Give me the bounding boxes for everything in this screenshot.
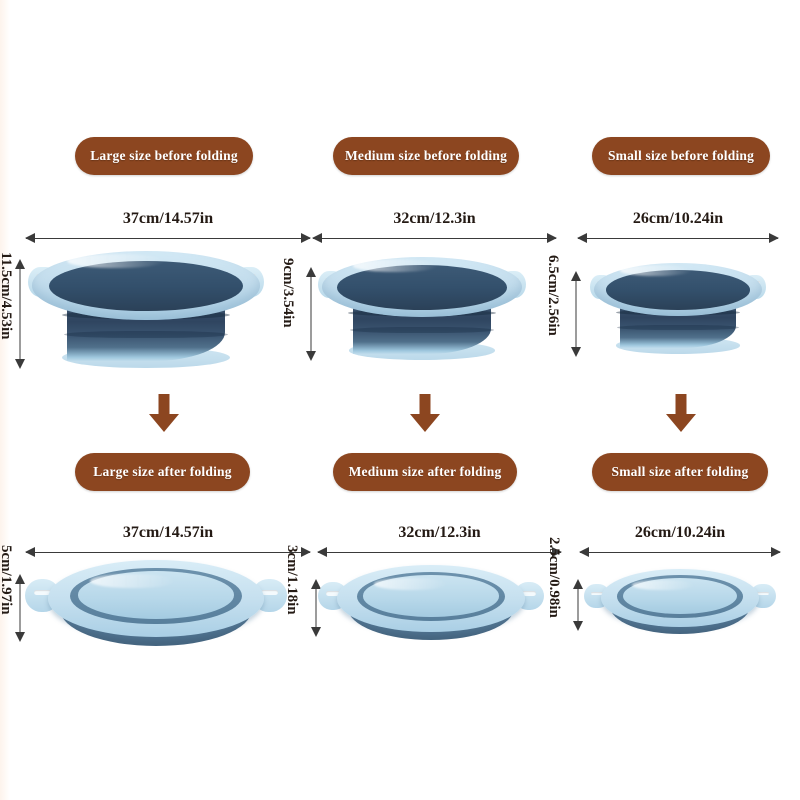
- width-label-large-before: 37cm/14.57in: [26, 210, 310, 228]
- product-image-large-folded: [30, 556, 282, 646]
- bowl-highlight: [67, 254, 164, 268]
- arrow-up-icon: [573, 579, 583, 589]
- product-image-medium-folded: [322, 562, 540, 640]
- badge-large-before: Large size before folding: [75, 137, 253, 175]
- arrow-down-icon: [676, 394, 687, 416]
- badge-large-after: Large size after folding: [75, 453, 250, 491]
- arrow-small: [666, 394, 696, 432]
- arrow-down-icon: [420, 394, 431, 416]
- dimension-line: [26, 552, 310, 553]
- product-image-small-folded: [588, 566, 772, 634]
- arrow-right-icon: [301, 547, 311, 557]
- arrow-left-icon: [577, 233, 587, 243]
- product-image-large-expanded: [30, 250, 262, 368]
- arrow-right-icon: [771, 547, 781, 557]
- width-label-medium-after: 32cm/12.3in: [318, 524, 561, 542]
- width-dimension-small-before: 26cm/10.24in: [578, 232, 778, 244]
- width-dimension-large-before: 37cm/14.57in: [26, 232, 310, 244]
- height-label-medium-before: 9cm/3.54in: [279, 258, 296, 328]
- width-dimension-small-after: 26cm/10.24in: [580, 546, 780, 558]
- arrow-right-icon: [301, 233, 311, 243]
- bowl-interior: [49, 261, 242, 312]
- arrow-right-icon: [769, 233, 779, 243]
- width-label-medium-before: 32cm/12.3in: [313, 210, 556, 228]
- arrow-right-icon: [547, 233, 557, 243]
- arrow-left-icon: [317, 547, 327, 557]
- arrow-head: [666, 414, 696, 432]
- arrow-down-icon: [15, 632, 25, 642]
- arrow-down-icon: [15, 359, 25, 369]
- arrow-down-icon: [159, 394, 170, 416]
- width-label-large-after: 37cm/14.57in: [26, 524, 310, 542]
- dimension-line: [580, 552, 780, 553]
- width-label-small-before: 26cm/10.24in: [578, 210, 778, 228]
- bowl-highlight: [620, 265, 692, 276]
- height-dimension-large-before: [14, 260, 26, 368]
- dimension-line: [26, 238, 310, 239]
- width-dimension-medium-before: 32cm/12.3in: [313, 232, 556, 244]
- page-edge-tint: [0, 0, 10, 800]
- arrow-down-icon: [573, 621, 583, 631]
- bowl-highlight: [353, 259, 439, 271]
- arrow-head: [149, 414, 179, 432]
- dimension-line: [578, 238, 778, 239]
- badge-small-before: Small size before folding: [592, 137, 770, 175]
- arrow-left-icon: [312, 233, 322, 243]
- product-image-small-expanded: [592, 262, 764, 354]
- arrow-down-icon: [311, 627, 321, 637]
- height-label-medium-after: 3cm/1.18in: [283, 545, 300, 615]
- dimension-line: [20, 260, 21, 368]
- width-label-small-after: 26cm/10.24in: [580, 524, 780, 542]
- width-dimension-medium-after: 32cm/12.3in: [318, 546, 561, 558]
- height-dimension-small-before: [570, 272, 582, 356]
- arrow-large: [149, 394, 179, 432]
- height-label-large-before: 11.5cm/4.53in: [0, 252, 14, 340]
- height-label-small-after: 2.5cm/0.98in: [545, 537, 562, 618]
- product-spec-infographic: Large size before folding Medium size be…: [0, 0, 800, 800]
- height-dimension-medium-before: [305, 268, 317, 360]
- bowl-interior: [606, 270, 749, 310]
- badge-medium-before: Medium size before folding: [333, 137, 519, 175]
- arrow-up-icon: [15, 574, 25, 584]
- arrow-down-icon: [571, 347, 581, 357]
- product-image-medium-expanded: [320, 256, 524, 360]
- arrow-head: [410, 414, 440, 432]
- arrow-medium: [410, 394, 440, 432]
- arrow-left-icon: [579, 547, 589, 557]
- height-dimension-small-after: [572, 580, 584, 630]
- dimension-line: [311, 268, 312, 360]
- dimension-line: [576, 272, 577, 356]
- badge-medium-after: Medium size after folding: [333, 453, 517, 491]
- height-label-large-after: 5cm/1.97in: [0, 545, 14, 615]
- dimension-line: [313, 238, 556, 239]
- arrow-up-icon: [306, 267, 316, 277]
- arrow-up-icon: [15, 259, 25, 269]
- height-dimension-large-after: [14, 575, 26, 641]
- dimension-line: [318, 552, 561, 553]
- arrow-down-icon: [306, 351, 316, 361]
- height-label-small-before: 6.5cm/2.56in: [544, 255, 561, 336]
- bowl-interior: [337, 265, 507, 310]
- badge-small-after: Small size after folding: [592, 453, 768, 491]
- bowl-highlight: [374, 578, 448, 590]
- arrow-left-icon: [25, 233, 35, 243]
- arrow-up-icon: [571, 271, 581, 281]
